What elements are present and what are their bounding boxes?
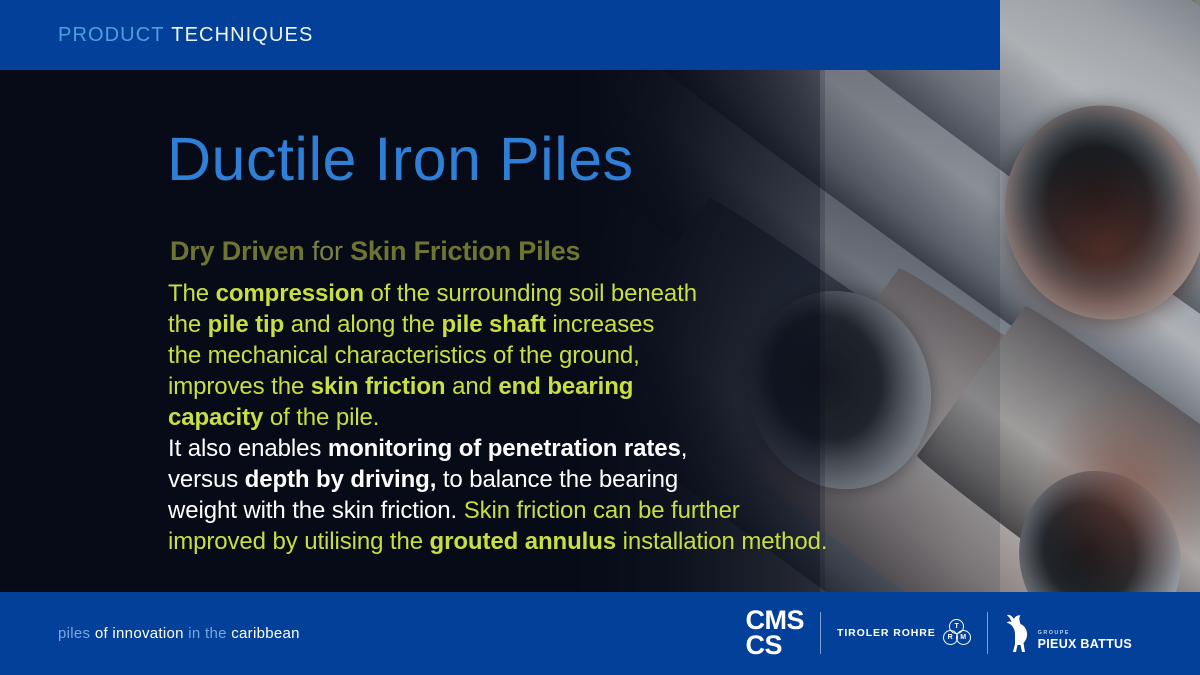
body-emphasis: depth by driving,: [245, 466, 437, 493]
body-line: improved by utilising the grouted annulu…: [168, 526, 1068, 557]
body-text-run: weight with the skin friction.: [168, 497, 464, 524]
footer-tagline: piles of innovation in the caribbean: [58, 625, 300, 642]
pieux-battus-wordmark: GROUPE PIEUX BATTUS: [1038, 630, 1132, 653]
body-text-run: The: [168, 280, 216, 307]
body-emphasis: pile shaft: [442, 311, 546, 338]
tagline-word-4: caribbean: [231, 625, 300, 642]
body-emphasis: monitoring of penetration rates: [328, 435, 681, 462]
pieux-battus-small-label: GROUPE: [1038, 630, 1132, 636]
body-line: The compression of the surrounding soil …: [168, 278, 1068, 309]
body-line: the pile tip and along the pile shaft in…: [168, 309, 1068, 340]
body-line: versus depth by driving, to balance the …: [168, 464, 1068, 495]
ibex-goat-icon: [1004, 613, 1034, 653]
body-text-run: and along the: [284, 311, 441, 338]
slide: PRODUCT TECHNIQUES Ductile Iron Piles Dr…: [0, 0, 1200, 675]
body-text-run: the mechanical characteristics of the gr…: [168, 342, 640, 369]
body-line: the mechanical characteristics of the gr…: [168, 340, 1068, 371]
body-emphasis: compression: [216, 280, 364, 307]
pieux-battus-logo: GROUPE PIEUX BATTUS: [1004, 613, 1132, 653]
slide-body-text: The compression of the surrounding soil …: [168, 278, 1068, 557]
tagline-word-1: piles: [58, 625, 95, 642]
footer-logos: CMS CS TIROLER ROHRE T R M GROU: [746, 604, 1132, 662]
body-text-run: improved by utilising the: [168, 528, 430, 555]
body-emphasis: end bearing: [498, 373, 633, 400]
header-bar: PRODUCT TECHNIQUES: [0, 0, 1000, 70]
slide-subtitle: Dry Driven for Skin Friction Piles: [170, 236, 580, 267]
subtitle-bold-1: Dry Driven: [170, 236, 305, 266]
header-title: PRODUCT TECHNIQUES: [58, 24, 313, 47]
body-emphasis: grouted annulus: [430, 528, 617, 555]
body-emphasis: capacity: [168, 404, 263, 431]
pieux-battus-label: PIEUX BATTUS: [1038, 637, 1132, 651]
subtitle-bold-2: Skin Friction Piles: [350, 236, 580, 266]
body-text-run: improves the: [168, 373, 311, 400]
body-text-run: increases: [546, 311, 654, 338]
body-text-run: and: [446, 373, 499, 400]
tiroler-rohre-label: TIROLER ROHRE: [837, 627, 936, 639]
body-text-run: installation method.: [616, 528, 827, 555]
trm-circle-m: M: [956, 630, 971, 645]
logo-divider: [820, 612, 821, 654]
header-title-techniques: TECHNIQUES: [171, 24, 313, 46]
cms-logo-line2: CS: [746, 633, 805, 658]
body-emphasis: pile tip: [208, 311, 285, 338]
tagline-word-2: of innovation: [95, 625, 188, 642]
tiroler-rohre-logo: TIROLER ROHRE T R M: [837, 619, 971, 647]
body-text-run: of the surrounding soil beneath: [364, 280, 697, 307]
footer-bar: piles of innovation in the caribbean CMS…: [0, 592, 1200, 675]
header-title-product: PRODUCT: [58, 24, 165, 46]
body-text-run: to balance the bearing: [436, 466, 678, 493]
slide-content: Ductile Iron Piles Dry Driven for Skin F…: [0, 0, 1200, 675]
tiroler-rohre-mark-icon: T R M: [943, 619, 971, 647]
subtitle-regular: for: [305, 236, 351, 266]
page-title: Ductile Iron Piles: [167, 129, 634, 190]
body-line: weight with the skin friction. Skin fric…: [168, 495, 1068, 526]
body-line: capacity of the pile.: [168, 402, 1068, 433]
logo-divider: [987, 612, 988, 654]
body-text-run: It also enables: [168, 435, 328, 462]
cms-cs-logo: CMS CS: [746, 608, 805, 658]
tagline-word-3: in the: [188, 625, 231, 642]
body-text-run: the: [168, 311, 208, 338]
body-text-run: of the pile.: [263, 404, 379, 431]
body-text-run: Skin friction can be further: [464, 497, 740, 524]
body-text-run: versus: [168, 466, 245, 493]
body-line: improves the skin friction and end beari…: [168, 371, 1068, 402]
body-emphasis: skin friction: [311, 373, 446, 400]
body-line: It also enables monitoring of penetratio…: [168, 433, 1068, 464]
body-text-run: ,: [681, 435, 688, 462]
